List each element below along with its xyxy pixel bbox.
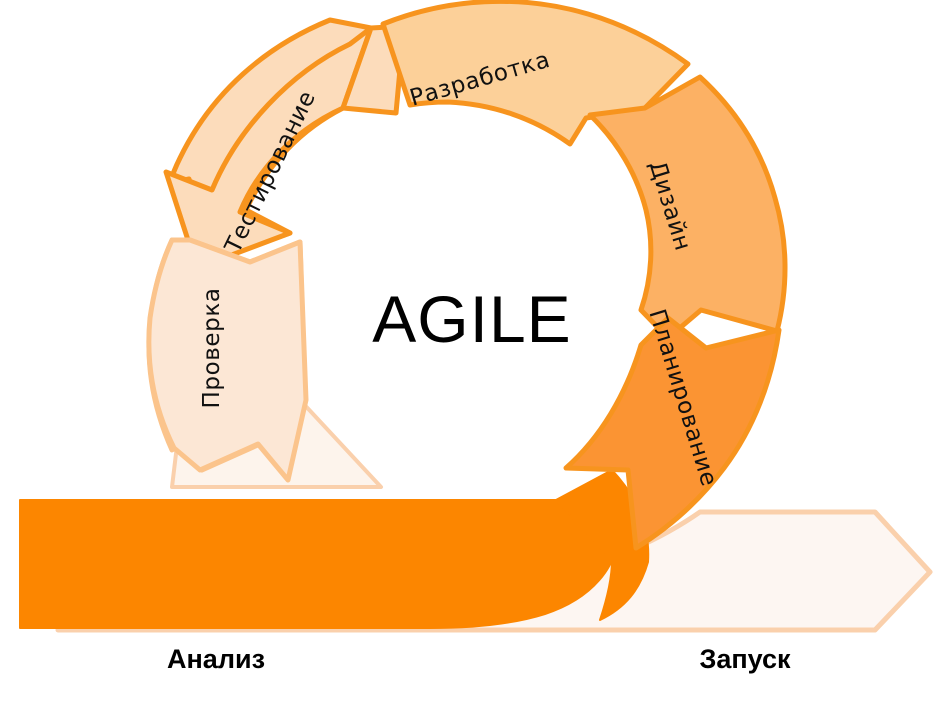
segment-label-analiz: Анализ — [167, 644, 265, 674]
agile-cycle-diagram: AGILE Разработка Дизайн Планирование Про… — [0, 0, 952, 702]
segment-analiz[interactable] — [20, 470, 648, 628]
segment-label-zapusk: Запуск — [699, 644, 791, 674]
center-title: AGILE — [372, 282, 571, 356]
segment-proverka[interactable] — [149, 240, 308, 480]
agile-diagram-canvas: AGILE Разработка Дизайн Планирование Про… — [0, 0, 952, 702]
segment-label-proverka: Проверка — [199, 287, 225, 408]
